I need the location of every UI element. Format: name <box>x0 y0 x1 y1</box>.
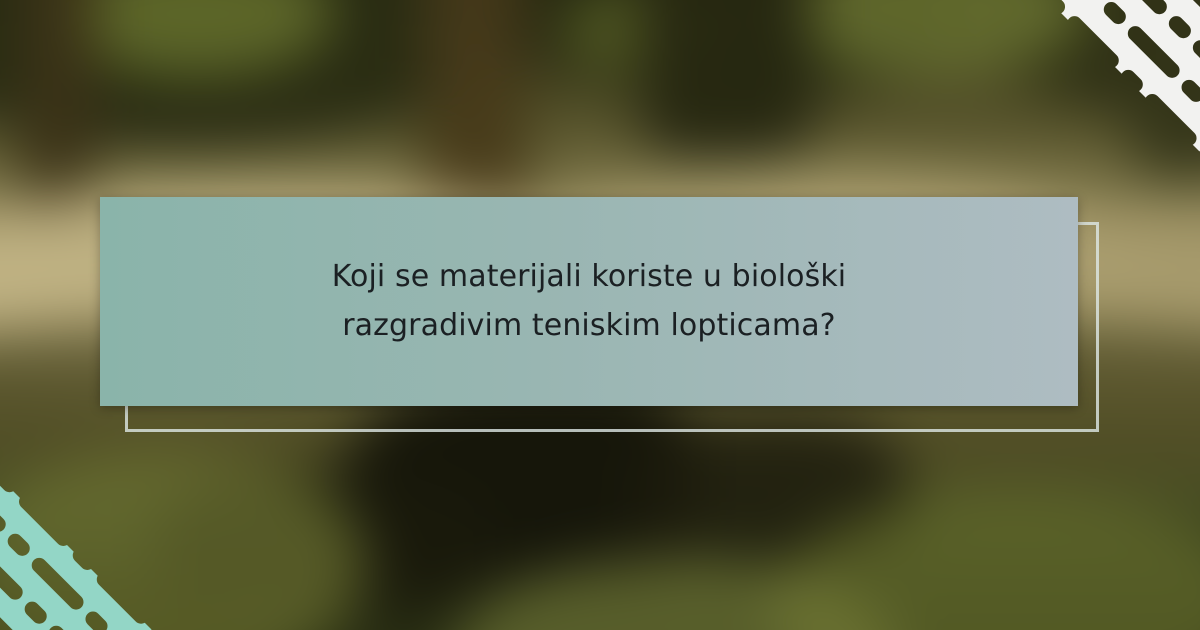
dashed-wedge-icon <box>974 0 1200 226</box>
background-tree-trunk <box>642 0 812 161</box>
corner-decoration-top-right <box>974 0 1200 226</box>
dashed-wedge-icon <box>0 404 226 630</box>
corner-decoration-bottom-left <box>0 404 226 630</box>
share-card-canvas: Koji se materijali koriste u biološki ra… <box>0 0 1200 630</box>
background-tree-trunk <box>19 0 95 225</box>
question-title: Koji se materijali koriste u biološki ra… <box>168 253 1009 350</box>
question-card: Koji se materijali koriste u biološki ra… <box>100 197 1078 406</box>
